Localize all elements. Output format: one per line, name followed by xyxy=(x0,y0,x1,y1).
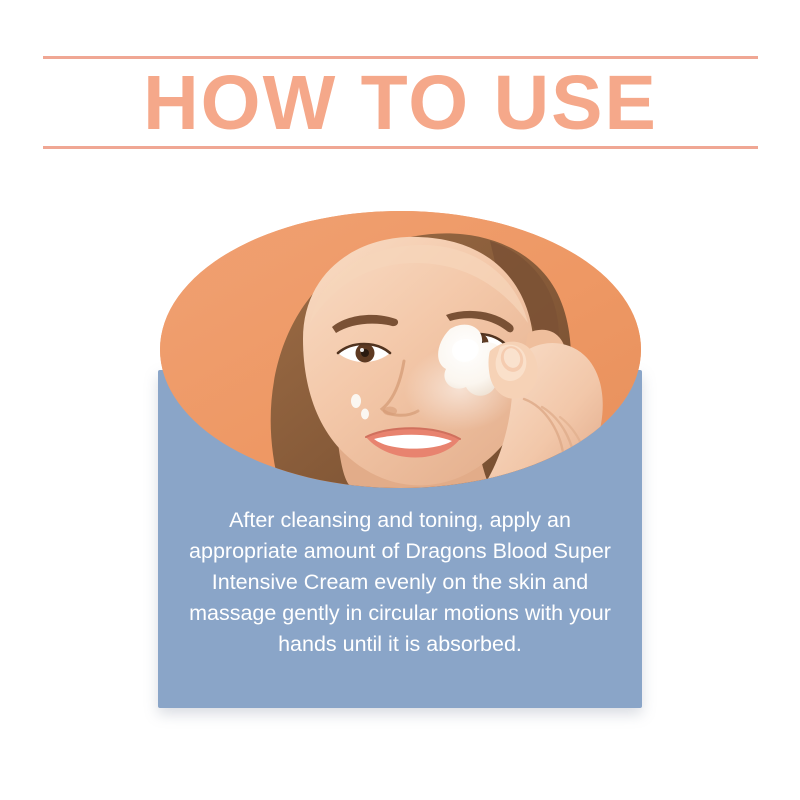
page-title: HOW TO USE xyxy=(43,60,758,146)
title-top-rule xyxy=(43,56,758,59)
poster-canvas: HOW TO USE xyxy=(0,0,800,800)
title-bottom-rule xyxy=(43,146,758,149)
photo-illustration xyxy=(160,211,641,488)
instruction-text: After cleansing and toning, apply an app… xyxy=(158,505,642,660)
woman-applying-cream-photo xyxy=(160,211,641,488)
header-block: HOW TO USE xyxy=(43,56,758,151)
